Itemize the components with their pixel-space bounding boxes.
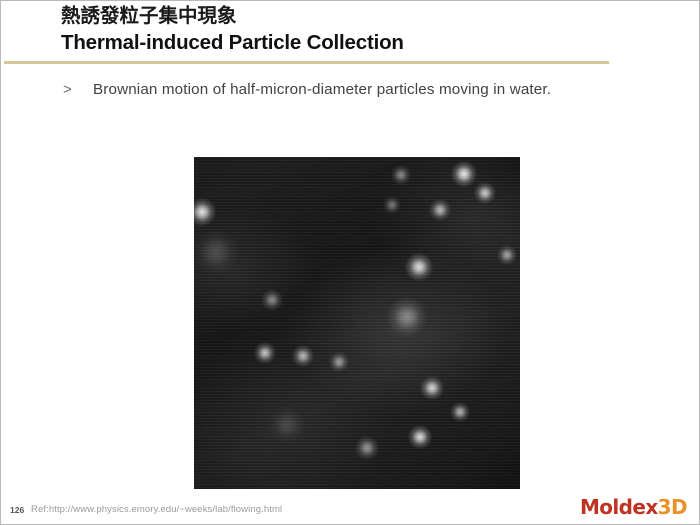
reference-url-text: Ref:http://www.physics.emory.edu/~weeks/…: [31, 504, 282, 515]
page-title-chinese: 熱誘發粒子集中現象: [61, 3, 661, 29]
title-divider-rule: [4, 61, 609, 64]
bullet-item-text: Brownian motion of half-micron-diameter …: [93, 79, 551, 101]
bullet-marker-icon: >: [63, 79, 93, 101]
presentation-slide: 熱誘發粒子集中現象 Thermal-induced Particle Colle…: [0, 0, 700, 525]
bullet-list-item: > Brownian motion of half-micron-diamete…: [63, 79, 643, 101]
moldex3d-logo: Moldex3D: [580, 495, 687, 519]
slide-page-number: 126: [10, 505, 24, 515]
logo-wordmark-suffix: 3D: [658, 495, 687, 519]
page-title-english: Thermal-induced Particle Collection: [61, 30, 661, 56]
video-noise-background: [194, 157, 520, 489]
logo-wordmark-main: Moldex: [580, 495, 658, 519]
microscopy-video-frame[interactable]: [194, 157, 520, 489]
slide-title-block: 熱誘發粒子集中現象 Thermal-induced Particle Colle…: [61, 3, 661, 56]
